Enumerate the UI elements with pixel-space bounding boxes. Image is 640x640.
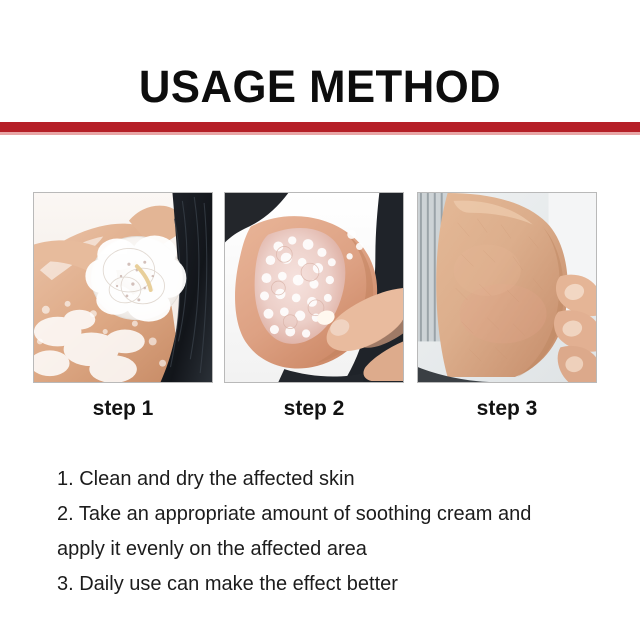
step-image-2 <box>224 192 404 383</box>
instruction-line-4: 3. Daily use can make the effect better <box>57 567 617 602</box>
title-block: USAGE METHOD <box>0 62 640 112</box>
step-image-3 <box>417 192 597 383</box>
step-label-1: step 1 <box>33 396 213 422</box>
step-labels-row: step 1 step 2 step 3 <box>33 396 607 422</box>
step-card-1 <box>33 192 213 383</box>
step-card-3 <box>417 192 597 383</box>
divider-accent-bar <box>0 132 640 135</box>
instruction-line-3: apply it evenly on the affected area <box>57 532 617 567</box>
instructions-block: 1. Clean and dry the affected skin 2. Ta… <box>57 462 617 602</box>
step-label-3: step 3 <box>417 396 597 422</box>
usage-method-infographic: USAGE METHOD <box>0 0 640 640</box>
instruction-line-2: 2. Take an appropriate amount of soothin… <box>57 497 617 532</box>
step-card-2 <box>224 192 404 383</box>
red-divider <box>0 122 640 135</box>
page-title: USAGE METHOD <box>10 62 631 112</box>
step-image-1 <box>33 192 213 383</box>
step-label-2: step 2 <box>224 396 404 422</box>
instruction-line-1: 1. Clean and dry the affected skin <box>57 462 617 497</box>
divider-main-bar <box>0 122 640 132</box>
step-images-row <box>33 192 607 383</box>
